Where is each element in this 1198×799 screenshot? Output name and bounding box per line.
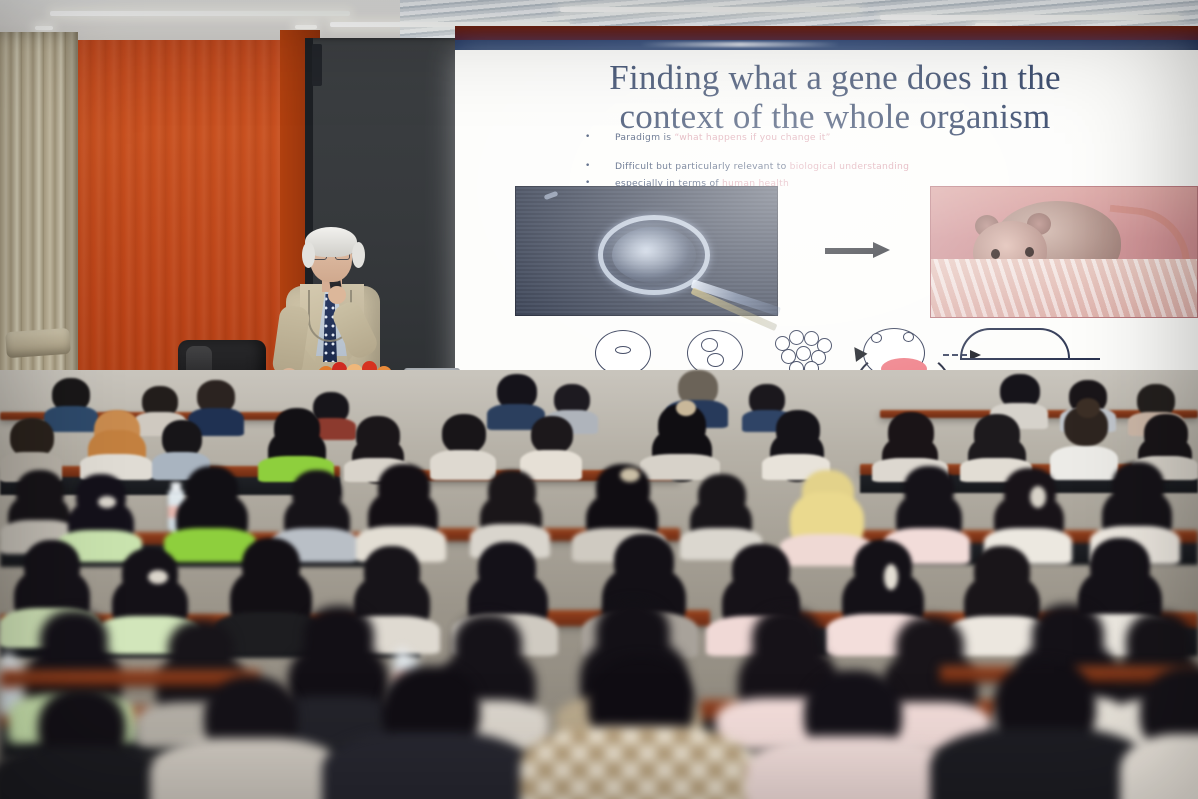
audience-member <box>356 464 446 558</box>
graph-axis <box>960 358 1100 360</box>
slide-bullet-list: • Paradigm is “what happens if you chang… <box>585 132 1145 194</box>
laboratory-mouse-image <box>930 186 1198 318</box>
bullet-marker-icon: • <box>585 132 589 144</box>
mouse-eye <box>1025 247 1034 257</box>
graph-curve <box>960 328 1070 358</box>
ceiling-downlight <box>295 25 317 29</box>
audience-member <box>930 660 1150 799</box>
ceiling-light-strip <box>880 15 1180 20</box>
trophoblast-cell <box>903 332 914 342</box>
audience-member <box>80 410 152 476</box>
audience-area <box>0 370 1198 799</box>
curtain-tieback <box>5 328 71 358</box>
audience-member <box>0 418 62 476</box>
ceiling-light-strip <box>50 11 350 16</box>
bullet-item: • Difficult but particularly relevant to… <box>585 161 1145 173</box>
audience-member <box>150 676 346 799</box>
embryo-cytoplasm <box>612 227 696 283</box>
slide-title-line-1: Finding what a gene does in the <box>495 58 1175 97</box>
bullet-text: Paradigm is “what happens if you change … <box>615 132 831 144</box>
audience-member <box>762 410 830 478</box>
speaker-right-hand <box>328 286 346 304</box>
bullet-text: Difficult but particularly relevant to b… <box>615 161 909 173</box>
cage-bedding <box>931 259 1198 317</box>
trophoblast-cell <box>871 333 882 343</box>
speaker-hair-side <box>352 242 365 268</box>
audience-member <box>746 670 952 799</box>
pronucleus <box>615 346 631 354</box>
slide-title-line-2: context of the whole organism <box>495 97 1175 136</box>
transition-arrow-icon <box>825 246 891 255</box>
audience-member <box>0 688 170 799</box>
ceiling-downlight <box>35 26 53 30</box>
mouse-eye <box>991 249 1000 259</box>
band-reflection <box>640 42 840 47</box>
wall-fixture <box>312 44 322 86</box>
audience-member <box>258 408 334 478</box>
bullet-marker-icon: • <box>585 161 589 173</box>
slide-title: Finding what a gene does in the context … <box>495 58 1175 136</box>
audience-member <box>322 666 532 799</box>
ceiling-light-strip <box>560 7 860 12</box>
lecture-hall-photo: Finding what a gene does in the context … <box>0 0 1198 799</box>
bullet-item: • Paradigm is “what happens if you chang… <box>585 132 1145 144</box>
audience-member <box>1120 668 1198 799</box>
audience-member <box>520 656 756 799</box>
blastomere <box>701 338 718 352</box>
speaker-hair-side <box>302 242 315 268</box>
embryo-microinjection-image <box>515 186 778 316</box>
image-speck <box>544 191 559 200</box>
blastomere <box>707 353 724 367</box>
